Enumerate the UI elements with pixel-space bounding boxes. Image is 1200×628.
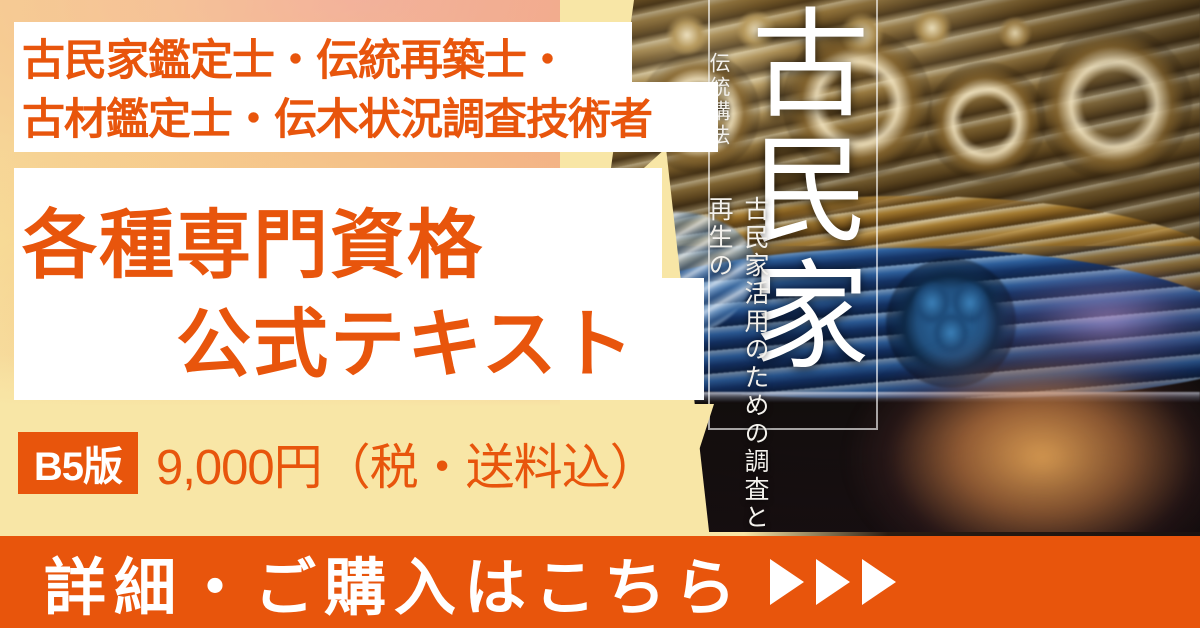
chevron-right-icon	[862, 559, 896, 605]
headline-line-2: 古材鑑定士・伝木状況調査技術者	[22, 85, 652, 147]
promo-banner: 古民家 伝統構法 古民家活用のための調査と再生の 古民家鑑定士・伝統再築士・ 古…	[0, 0, 1200, 628]
cta-button[interactable]: 詳細・ご購入はこちら	[0, 536, 1200, 628]
cta-arrow-group	[770, 559, 896, 605]
format-badge: B5版	[18, 432, 138, 494]
headline-line-1: 古民家鑑定士・伝統再築士・	[22, 26, 568, 88]
cover-subtitle-line-2: 古民家活用のための調査と再生の	[700, 196, 772, 540]
price-text: 9,000円（税・送料込）	[156, 432, 658, 494]
chevron-right-icon	[816, 559, 850, 605]
title-line-2: 公式テキスト	[176, 283, 636, 392]
title-line-1: 各種専門資格	[22, 184, 484, 293]
cta-label: 詳細・ご購入はこちら	[44, 537, 744, 627]
chevron-right-icon	[770, 559, 804, 605]
